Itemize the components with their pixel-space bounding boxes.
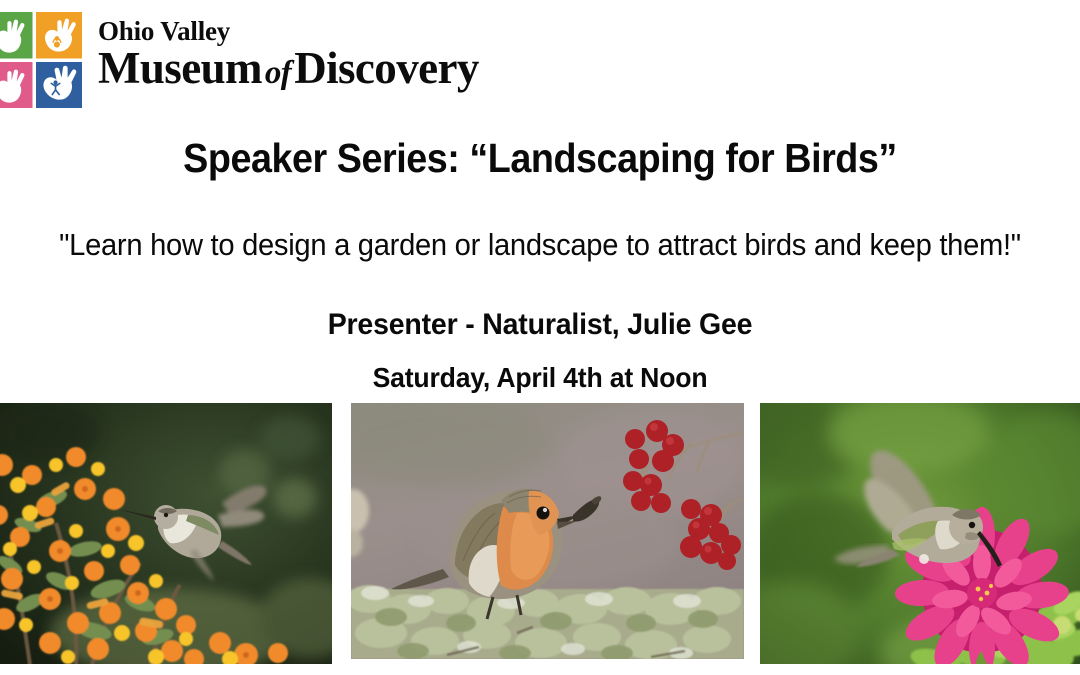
event-headline: Speaker Series: “Landscaping for Birds”	[43, 135, 1037, 182]
logo-line-ohio-valley: Ohio Valley	[98, 18, 479, 45]
green-hand-tile	[0, 12, 33, 59]
orange-hand-tile	[36, 12, 83, 59]
logo-word-museum: Museum	[98, 43, 262, 93]
photo-hummingbird-pink-dahlia	[760, 403, 1080, 664]
logo-word-of: of	[262, 55, 294, 91]
pink-hand-tile	[0, 62, 33, 109]
logo-hand-tiles	[0, 12, 82, 108]
event-presenter: Presenter - Naturalist, Julie Gee	[27, 308, 1053, 342]
event-tagline: "Learn how to design a garden or landsca…	[32, 227, 1047, 263]
museum-logo[interactable]: Ohio Valley MuseumofDiscovery	[0, 12, 479, 108]
logo-line-museum-of-discovery: MuseumofDiscovery	[98, 46, 479, 91]
photo-robin-with-worm	[351, 403, 744, 659]
logo-word-discovery: Discovery	[294, 43, 479, 93]
blue-hand-tile	[36, 62, 83, 109]
logo-wordmark: Ohio Valley MuseumofDiscovery	[98, 18, 479, 91]
photo-hummingbird-orange-flowers	[0, 403, 332, 664]
flyer-slide: Ohio Valley MuseumofDiscovery Speaker Se…	[0, 0, 1080, 675]
event-datetime: Saturday, April 4th at Noon	[27, 362, 1053, 394]
